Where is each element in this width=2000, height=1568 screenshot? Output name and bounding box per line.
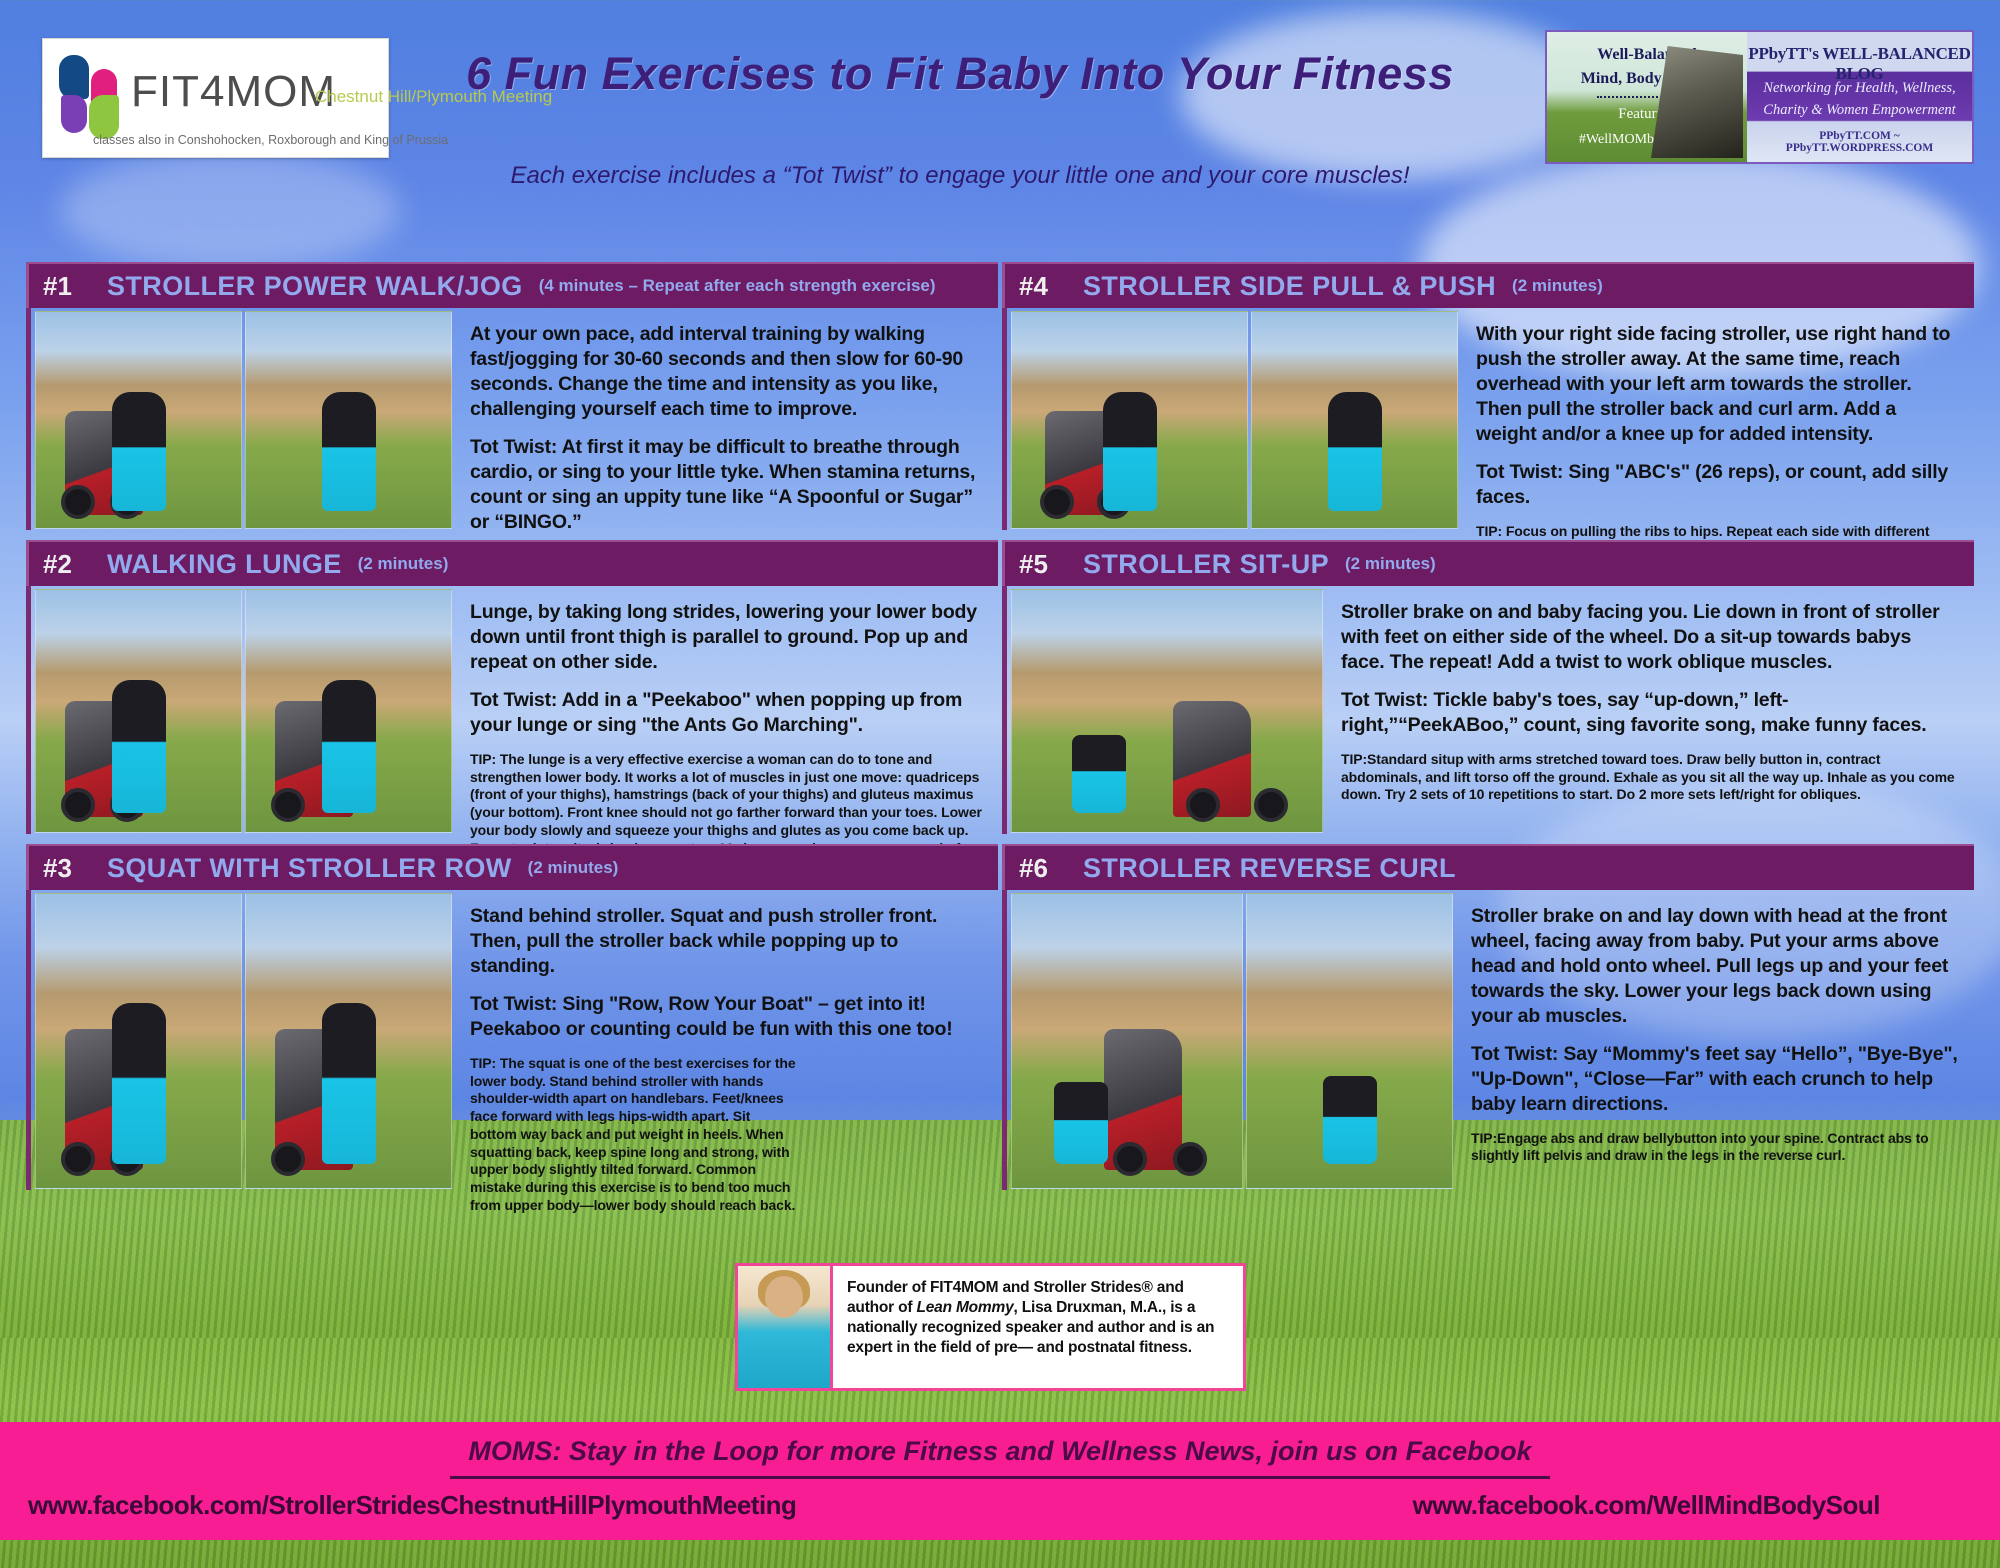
exercise-photo: [1011, 589, 1323, 833]
footer-underline: [450, 1476, 1550, 1479]
founder-book-title: Lean Mommy: [916, 1299, 1013, 1316]
exercise-card-6: #6 STROLLER REVERSE CURL Stroller brake …: [1002, 844, 1974, 1190]
exercise-tot-twist: Tot Twist: Say “Mommy's feet say “Hello”…: [1471, 1042, 1958, 1117]
exercise-photo: [35, 893, 242, 1189]
blog-badge[interactable]: Well-Balanced Mind, Body & Soul Featurin…: [1545, 30, 1974, 164]
exercise-tip: TIP:Standard situp with arms stretched t…: [1341, 751, 1958, 804]
badge-tagline-2: Charity & Women Empowerment: [1747, 102, 1972, 119]
exercise-photo: [35, 311, 242, 529]
founder-bio-box: Founder of FIT4MOM and Stroller Strides®…: [735, 1263, 1246, 1391]
exercise-duration: (2 minutes): [1345, 554, 1436, 574]
exercise-text: With your right side facing stroller, us…: [1458, 308, 1974, 530]
logo-subline: classes also in Conshohocken, Roxborough…: [93, 133, 448, 147]
tip-label: TIP:: [470, 751, 496, 767]
exercise-card-2: #2 WALKING LUNGE (2 minutes) Lunge, by t…: [26, 540, 998, 834]
facebook-link-strollerstrides[interactable]: www.facebook.com/StrollerStridesChestnut…: [28, 1490, 796, 1521]
exercise-photos: [1007, 308, 1458, 530]
right-column: #4 STROLLER SIDE PULL & PUSH (2 minutes)…: [1002, 262, 1974, 1200]
exercise-photos: [31, 308, 452, 530]
logo-wordmark: FIT4MOM: [131, 67, 336, 117]
tip-label: TIP:: [1341, 751, 1367, 767]
exercise-photo: [245, 893, 452, 1189]
exercise-title: STROLLER SIDE PULL & PUSH: [1083, 271, 1496, 302]
exercise-number: #1: [29, 271, 107, 302]
tot-twist-label: Tot Twist:: [470, 993, 557, 1015]
flower-logo-icon: [59, 55, 121, 133]
exercise-text: Stroller brake on and lay down with head…: [1453, 890, 1974, 1190]
exercise-number: #4: [1005, 271, 1083, 302]
exercise-duration: (4 minutes – Repeat after each strength …: [539, 276, 936, 296]
exercise-text: Lunge, by taking long strides, lowering …: [452, 586, 998, 834]
tot-twist-label: Tot Twist:: [470, 689, 557, 711]
exercise-tip: TIP: The squat is one of the best exerci…: [470, 1055, 800, 1215]
exercise-title: WALKING LUNGE: [107, 549, 342, 580]
exercise-number: #3: [29, 853, 107, 884]
exercise-body: With your right side facing stroller, us…: [1002, 308, 1974, 530]
exercise-header: #4 STROLLER SIDE PULL & PUSH (2 minutes): [1002, 262, 1974, 308]
exercise-photo: [1246, 893, 1453, 1189]
exercise-description: Stroller brake on and baby facing you. L…: [1341, 600, 1958, 675]
exercise-tip: TIP:Engage abs and draw bellybutton into…: [1471, 1130, 1958, 1166]
badge-blog-title: PPbyTT's WELL-BALANCED BLOG: [1747, 44, 1972, 84]
page-header: FIT4MOM Chestnut Hill/Plymouth Meeting c…: [0, 0, 2000, 205]
exercise-photo: [1011, 893, 1243, 1189]
exercise-photos: [31, 586, 452, 834]
exercise-title: STROLLER REVERSE CURL: [1083, 853, 1456, 884]
exercise-text: Stroller brake on and baby facing you. L…: [1323, 586, 1974, 834]
page-title: 6 Fun Exercises to Fit Baby Into Your Fi…: [430, 48, 1490, 100]
exercise-number: #6: [1005, 853, 1083, 884]
exercise-card-3: #3 SQUAT WITH STROLLER ROW (2 minutes) S…: [26, 844, 998, 1190]
exercise-text: At your own pace, add interval training …: [452, 308, 998, 530]
facebook-link-wellmindbodysoul[interactable]: www.facebook.com/WellMindBodySoul: [1413, 1490, 1880, 1521]
page-subtitle: Each exercise includes a “Tot Twist” to …: [430, 162, 1490, 190]
exercise-tot-twist: Tot Twist: Sing "ABC's" (26 reps), or co…: [1476, 460, 1958, 510]
exercise-body: Stroller brake on and lay down with head…: [1002, 890, 1974, 1190]
tip-text: Engage abs and draw bellybutton into you…: [1471, 1130, 1929, 1164]
exercise-number: #2: [29, 549, 107, 580]
tip-label: TIP:: [470, 1055, 496, 1071]
exercise-duration: (2 minutes): [528, 858, 619, 878]
tip-label: TIP:: [1476, 523, 1502, 539]
exercise-body: At your own pace, add interval training …: [26, 308, 998, 530]
exercise-description: At your own pace, add interval training …: [470, 322, 982, 422]
tot-twist-label: Tot Twist:: [1471, 1043, 1558, 1065]
exercise-photos: [31, 890, 452, 1190]
exercise-tot-twist: Tot Twist: At first it may be difficult …: [470, 435, 982, 535]
exercise-body: Lunge, by taking long strides, lowering …: [26, 586, 998, 834]
exercise-card-4: #4 STROLLER SIDE PULL & PUSH (2 minutes)…: [1002, 262, 1974, 530]
exercise-description: Stand behind stroller. Squat and push st…: [470, 904, 961, 979]
exercise-description: Lunge, by taking long strides, lowering …: [470, 600, 982, 675]
exercise-photos: [1007, 586, 1323, 834]
left-column: #1 STROLLER POWER WALK/JOG (4 minutes – …: [26, 262, 998, 1200]
tip-text: Standard situp with arms stretched towar…: [1341, 751, 1955, 803]
tot-twist-label: Tot Twist:: [1341, 689, 1428, 711]
exercise-title: SQUAT WITH STROLLER ROW: [107, 853, 512, 884]
exercise-card-1: #1 STROLLER POWER WALK/JOG (4 minutes – …: [26, 262, 998, 530]
tip-label: TIP:: [1471, 1130, 1497, 1146]
tot-twist-label: Tot Twist:: [470, 436, 557, 458]
founder-bio-text: Founder of FIT4MOM and Stroller Strides®…: [833, 1266, 1243, 1388]
exercise-title: STROLLER SIT-UP: [1083, 549, 1329, 580]
exercise-duration: (2 minutes): [358, 554, 449, 574]
footer-headline: MOMS: Stay in the Loop for more Fitness …: [0, 1436, 2000, 1467]
exercise-body: Stand behind stroller. Squat and push st…: [26, 890, 998, 1190]
exercise-description: Stroller brake on and lay down with head…: [1471, 904, 1958, 1029]
fit4mom-logo: FIT4MOM Chestnut Hill/Plymouth Meeting c…: [42, 38, 389, 158]
exercise-photo: [35, 589, 242, 833]
exercise-title: STROLLER POWER WALK/JOG: [107, 271, 523, 302]
tot-twist-label: Tot Twist:: [1476, 461, 1563, 483]
tip-text: The squat is one of the best exercises f…: [470, 1055, 796, 1213]
exercise-header: #1 STROLLER POWER WALK/JOG (4 minutes – …: [26, 262, 998, 308]
badge-tagline-1: Networking for Health, Wellness,: [1747, 80, 1972, 97]
exercise-photos: [1007, 890, 1453, 1190]
exercise-photo: [1011, 311, 1248, 529]
blog-badge-right: PPbyTT's WELL-BALANCED BLOG Networking f…: [1747, 32, 1972, 162]
exercise-header: #6 STROLLER REVERSE CURL: [1002, 844, 1974, 890]
founder-photo: [738, 1266, 833, 1388]
exercise-photo: [245, 311, 452, 529]
exercise-body: Stroller brake on and baby facing you. L…: [1002, 586, 1974, 834]
exercise-header: #2 WALKING LUNGE (2 minutes): [26, 540, 998, 586]
blog-badge-left: Well-Balanced Mind, Body & Soul Featurin…: [1547, 32, 1747, 162]
exercise-header: #5 STROLLER SIT-UP (2 minutes): [1002, 540, 1974, 586]
page-footer: MOMS: Stay in the Loop for more Fitness …: [0, 1422, 2000, 1540]
badge-url: PPbyTT.COM ~ PPbyTT.WORDPRESS.COM: [1747, 130, 1972, 154]
exercise-photo: [1251, 311, 1458, 529]
exercise-card-5: #5 STROLLER SIT-UP (2 minutes) Stroller …: [1002, 540, 1974, 834]
exercise-tot-twist: Tot Twist: Tickle baby's toes, say “up-d…: [1341, 688, 1958, 738]
exercise-duration: (2 minutes): [1512, 276, 1603, 296]
tot-twist-text: Tickle baby's toes, say “up-down,” left-…: [1341, 689, 1927, 736]
exercise-header: #3 SQUAT WITH STROLLER ROW (2 minutes): [26, 844, 998, 890]
exercise-tot-twist: Tot Twist: Sing "Row, Row Your Boat" – g…: [470, 992, 961, 1042]
exercise-tot-twist: Tot Twist: Add in a "Peekaboo" when popp…: [470, 688, 982, 738]
exercise-description: With your right side facing stroller, us…: [1476, 322, 1958, 447]
exercise-photo: [245, 589, 452, 833]
exercise-number: #5: [1005, 549, 1083, 580]
exercise-text: Stand behind stroller. Squat and push st…: [452, 890, 977, 1190]
